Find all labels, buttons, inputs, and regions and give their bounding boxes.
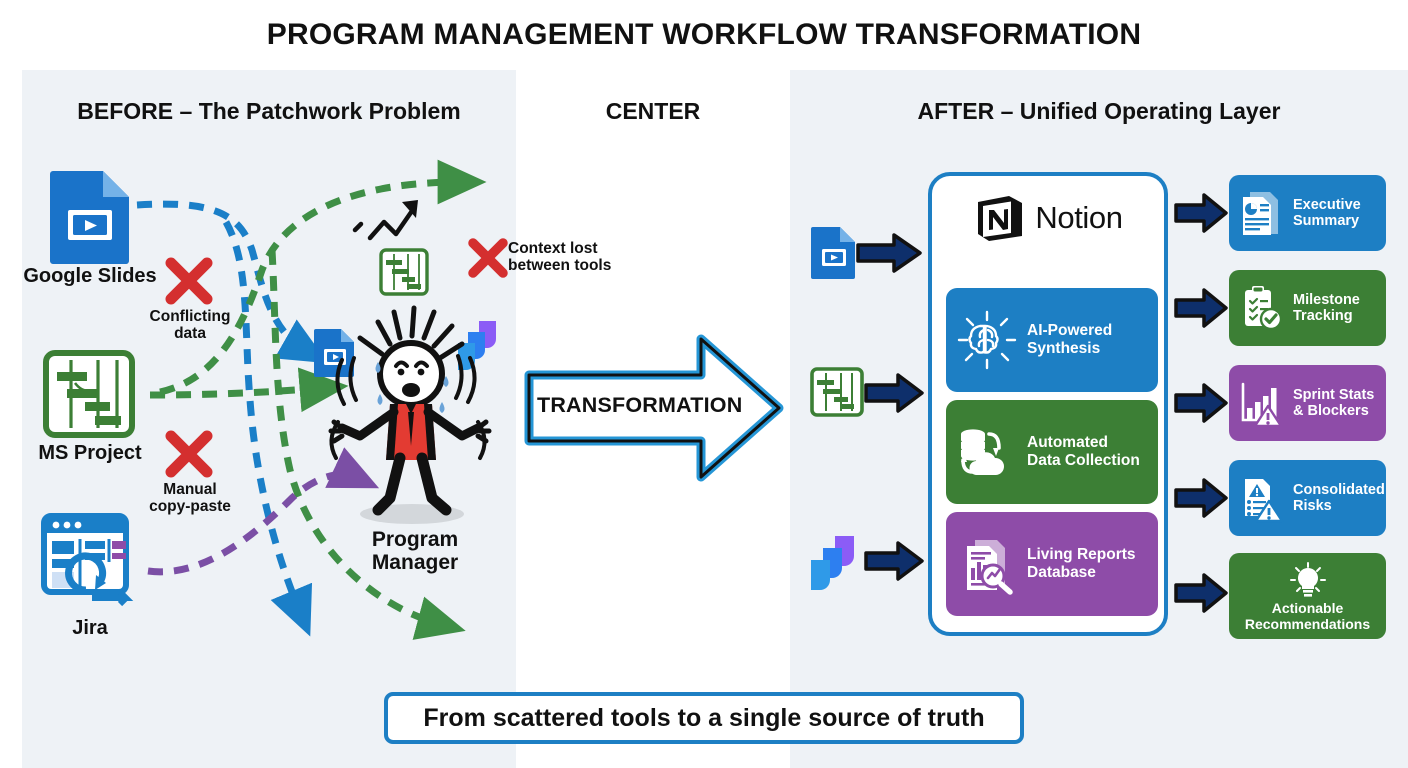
bottom-caption-banner: From scattered tools to a single source … [384,692,1024,744]
output-card-sprint-stats-blockers[interactable]: Sprint Stats & Blockers [1229,365,1386,441]
black-arrow-icon-output-4 [1174,478,1228,518]
feature-line-1: AI-Powered [1027,322,1112,340]
output-line-2: Recommendations [1245,617,1370,633]
notion-brand-header: Notion [932,192,1164,244]
clipboard-check-icon [1236,283,1286,333]
jira-icon [40,512,138,612]
pain-line-1: Context lost [508,240,638,257]
tool-label-google-slides: Google Slides [20,265,160,288]
tool-label-ms-project: MS Project [20,442,160,465]
lightbulb-icon [1288,561,1328,599]
output-label-sprint-stats-blockers: Sprint Stats & Blockers [1293,387,1374,420]
after-input-jira-icon [808,533,860,589]
feature-label-ai-powered-synthesis: AI-Powered Synthesis [1027,322,1112,358]
panel-center-heading: CENTER [516,98,790,125]
feature-line-2: Data Collection [1027,452,1140,470]
report-search-icon [955,532,1019,596]
output-line-2: & Blockers [1293,403,1374,419]
red-x-icon-conflicting-data [163,255,215,307]
output-label-milestone-tracking: Milestone Tracking [1293,292,1360,325]
output-line-2: Summary [1293,213,1361,229]
persona-line-1: Program [330,528,500,551]
document-chart-icon [1236,188,1286,238]
bottom-caption-text: From scattered tools to a single source … [423,704,984,733]
transformation-arrow: TRANSFORMATION [523,333,785,483]
stressed-person-icon [320,300,500,530]
output-line-1: Actionable [1245,601,1370,617]
pain-label-context-lost: Context lost between tools [508,240,638,275]
brain-idea-icon [955,308,1019,372]
infographic-canvas: PROGRAM MANAGEMENT WORKFLOW TRANSFORMATI… [0,0,1408,768]
output-card-milestone-tracking[interactable]: Milestone Tracking [1229,270,1386,346]
feature-label-automated-data-collection: Automated Data Collection [1027,434,1140,470]
ms-project-icon [43,350,135,438]
feature-card-living-reports-database[interactable]: Living Reports Database [946,512,1158,616]
pain-line-2: copy-paste [122,498,258,515]
output-line-1: Executive [1293,197,1361,213]
output-line-2: Tracking [1293,308,1360,324]
notion-logo-icon [973,192,1025,244]
persona-label-program-manager: Program Manager [330,528,500,574]
feature-label-living-reports-database: Living Reports Database [1027,546,1136,582]
output-label-executive-summary: Executive Summary [1293,197,1361,230]
output-line-1: Milestone [1293,292,1360,308]
black-arrow-icon-output-1 [1174,193,1228,233]
pain-line-2: data [129,325,251,342]
red-x-icon-context-lost [466,236,510,280]
panel-after-heading: AFTER – Unified Operating Layer [790,98,1408,125]
red-x-icon-manual-copy-paste [163,428,215,480]
feature-line-1: Living Reports [1027,546,1136,564]
output-line-1: Sprint Stats [1293,387,1374,403]
output-card-executive-summary[interactable]: Executive Summary [1229,175,1386,251]
feature-line-1: Automated [1027,434,1140,452]
output-line-1: Consolidated [1293,482,1385,498]
bar-chart-warning-icon [1236,378,1286,428]
output-card-consolidated-risks[interactable]: Consolidated Risks [1229,460,1386,536]
output-line-2: Risks [1293,498,1385,514]
after-input-google-slides-icon [810,225,858,279]
black-arrow-icon-output-2 [1174,288,1228,328]
persona-line-2: Manager [330,551,500,574]
page-title: PROGRAM MANAGEMENT WORKFLOW TRANSFORMATI… [0,18,1408,52]
panel-before-heading: BEFORE – The Patchwork Problem [22,98,516,125]
feature-card-automated-data-collection[interactable]: Automated Data Collection [946,400,1158,504]
pain-label-conflicting-data: Conflicting data [129,308,251,343]
pain-line-1: Conflicting [129,308,251,325]
transformation-arrow-label: TRANSFORMATION [537,393,737,418]
risk-document-icon [1236,473,1286,523]
black-arrow-icon-output-5 [1174,573,1228,613]
black-arrow-icon-input-1 [856,233,922,273]
after-input-ms-project-icon [810,367,864,417]
pain-label-manual-copy-paste: Manual copy-paste [122,481,258,516]
output-card-actionable-recommendations[interactable]: Actionable Recommendations [1229,553,1386,639]
notion-brand-label: Notion [1035,200,1122,236]
ms-project-mini-icon [379,248,429,296]
database-cloud-sync-icon [955,420,1019,484]
output-label-consolidated-risks: Consolidated Risks [1293,482,1385,515]
pain-line-2: between tools [508,257,638,274]
google-slides-icon [47,168,133,264]
tool-label-jira: Jira [25,617,155,640]
black-arrow-icon-input-3 [864,541,924,581]
feature-line-2: Synthesis [1027,340,1112,358]
black-arrow-icon-output-3 [1174,383,1228,423]
feature-card-ai-powered-synthesis[interactable]: AI-Powered Synthesis [946,288,1158,392]
output-label-actionable-recommendations: Actionable Recommendations [1245,601,1370,633]
black-arrow-icon-input-2 [864,373,924,413]
notion-hub-container: Notion AI-Powered Synthesis [928,172,1168,636]
pain-line-1: Manual [122,481,258,498]
feature-line-2: Database [1027,564,1136,582]
